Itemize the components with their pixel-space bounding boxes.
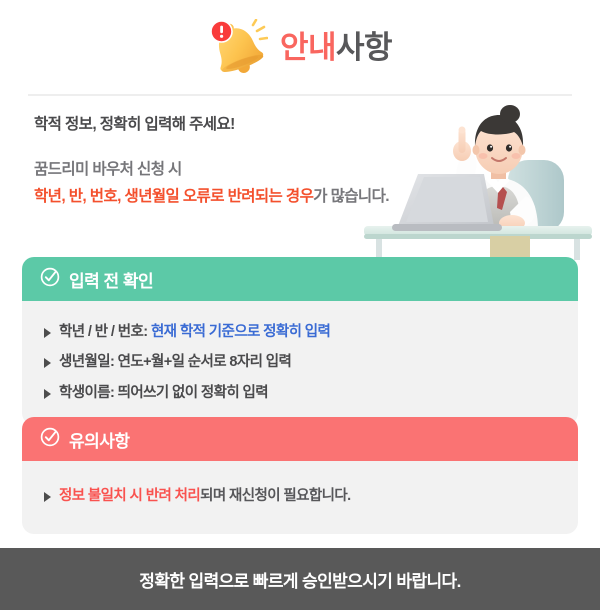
intro-line-2: 꿈드리미 바우처 신청 시 [34, 157, 454, 179]
list-item: 생년월일: 연도+월+일 순서로 8자리 입력 [22, 348, 578, 379]
list-item-emphasis: 정보 불일치 시 반려 처리 [59, 488, 200, 504]
list-item: 학년 / 반 / 번호: 현재 학적 기준으로 정확히 입력 [22, 317, 578, 348]
intro-line-3: 학년, 반, 번호, 생년월일 오류로 반려되는 경우가 많습니다. [34, 184, 454, 206]
triangle-bullet-icon [44, 358, 51, 368]
list-item-label: 생년월일: 연도+월+일 순서로 8자리 입력 [59, 354, 291, 370]
page-title-rest: 사항 [336, 30, 392, 65]
card-cautions: 유의사항 정보 불일치 시 반려 처리되며 재신청이 필요합니다. [22, 417, 578, 534]
list-item-tail: 되며 재신청이 필요합니다. [200, 488, 350, 504]
list-item-text: 생년월일: 연도+월+일 순서로 8자리 입력 [59, 353, 291, 373]
bell-alert-icon [208, 19, 268, 77]
card-cautions-header: 유의사항 [22, 417, 578, 461]
header-divider [28, 94, 572, 96]
card-pre-input-check-header: 입력 전 확인 [22, 257, 578, 301]
footer-text: 정확한 입력으로 빠르게 승인받으시기 바랍니다. [139, 567, 460, 592]
intro-text-block: 학적 정보, 정확히 입력해 주세요! 꿈드리미 바우처 신청 시 학년, 반,… [34, 112, 454, 206]
list-item-text: 학년 / 반 / 번호: 현재 학적 기준으로 정확히 입력 [59, 323, 330, 343]
triangle-bullet-icon [44, 492, 51, 502]
page-header: 안내사항 [0, 0, 600, 95]
card-pre-input-check-body: 학년 / 반 / 번호: 현재 학적 기준으로 정확히 입력 생년월일: 연도+… [22, 301, 578, 425]
list-item-text: 학생이름: 띄어쓰기 없이 정확히 입력 [59, 384, 268, 404]
notice-page: 안내사항 [0, 0, 600, 610]
card-pre-input-check: 입력 전 확인 학년 / 반 / 번호: 현재 학적 기준으로 정확히 입력 생… [22, 257, 578, 425]
list-item: 학생이름: 띄어쓰기 없이 정확히 입력 [22, 378, 578, 409]
intro-line-1: 학적 정보, 정확히 입력해 주세요! [34, 112, 454, 134]
list-item-label: 학년 / 반 / 번호: [59, 324, 151, 340]
check-circle-icon [40, 267, 60, 292]
list-item-label: 학생이름: 띄어쓰기 없이 정확히 입력 [59, 385, 268, 401]
card-cautions-title: 유의사항 [69, 427, 130, 452]
intro-line-3-highlight: 학년, 반, 번호, 생년월일 오류로 반려되는 경우 [34, 188, 313, 205]
card-cautions-body: 정보 불일치 시 반려 처리되며 재신청이 필요합니다. [22, 461, 578, 534]
check-circle-icon [40, 427, 60, 452]
triangle-bullet-icon [44, 389, 51, 399]
card-pre-input-check-title: 입력 전 확인 [69, 267, 153, 292]
intro-line-3-tail: 가 많습니다. [313, 188, 389, 205]
page-title-accent: 안내 [280, 30, 336, 65]
page-title: 안내사항 [280, 32, 392, 63]
triangle-bullet-icon [44, 328, 51, 338]
list-item: 정보 불일치 시 반려 처리되며 재신청이 필요합니다. [22, 481, 578, 512]
page-footer: 정확한 입력으로 빠르게 승인받으시기 바랍니다. [0, 548, 600, 610]
list-item-emphasis: 현재 학적 기준으로 정확히 입력 [151, 324, 330, 340]
list-item-text: 정보 불일치 시 반려 처리되며 재신청이 필요합니다. [59, 487, 351, 507]
